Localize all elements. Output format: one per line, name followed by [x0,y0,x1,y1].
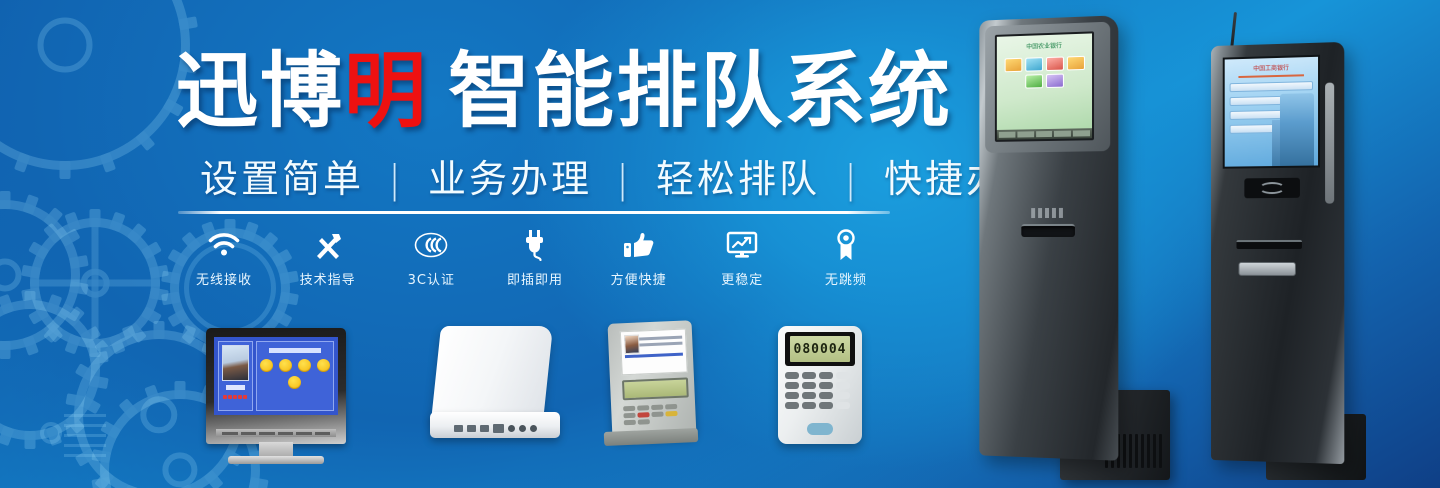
feature-item-stability: 更稳定 [696,226,788,288]
kiosk-right-screen: 中国工商银行 [1223,55,1320,169]
subtitle-item-1: 设置简单 [200,157,364,201]
subtitle-separator: | [844,157,860,201]
banner-headline: 迅博 明 智能排队系统 [176,42,906,142]
kiosk-left-logo [1031,208,1065,218]
evaluation-panel [256,341,334,411]
feature-label: 方便快捷 [593,269,685,288]
staff-info-panel [218,341,253,411]
subtitle-separator: | [616,157,632,201]
staff-id-card [620,328,688,375]
building-graphic-main [1280,93,1314,166]
staff-photo [222,345,249,381]
handheld-enter-key [807,423,833,435]
tools-icon [282,226,374,264]
feature-list: 无线接收 技术指导 3C认证 [178,226,892,292]
gear-icon [0,0,190,170]
feature-label: 即插即用 [489,269,581,288]
kiosk-left-service-tiles [997,53,1092,93]
feature-item-no-frequency-hop: 无跳频 [800,226,892,288]
feature-item-wireless: 无线接收 [178,226,270,288]
handheld-body: 080004 [778,326,862,444]
product-router [430,326,560,444]
handheld-screen-frame: 080004 [785,332,855,366]
product-desktop-evaluator [604,322,698,444]
monitor-stand-base [228,456,324,464]
handheld-number-display: 080004 [794,342,847,357]
feature-label: 技术指导 [282,269,374,288]
monitor-screen [214,337,338,415]
kiosk-left-screen-footer [997,128,1092,140]
promo-banner: 迅博 明 智能排队系统 设置简单 | 业务办理 | 轻松排队 | 快捷办理 无线… [0,0,1440,488]
kiosk-right-label-plate [1238,262,1296,276]
banner-subtitle: 设置简单 | 业务办理 | 轻松排队 | 快捷办理 [200,148,900,203]
product-monitor [206,328,346,444]
feature-item-convenient: 方便快捷 [593,226,685,288]
evaluator-keypad [623,403,690,425]
monitor-chart-icon [696,226,788,264]
product-kiosk-right: 中国工商银行 [1196,16,1382,480]
staff-name-line [226,385,245,390]
kiosk-right-bank-name: 中国工商银行 [1229,62,1314,73]
evaluator-stand [604,428,699,446]
rfid-wave-icon [1259,182,1285,194]
emoji-rating-faces [259,359,331,389]
evaluator-body [608,320,697,440]
kiosk-left-ticket-slot [1021,224,1075,237]
thumbs-up-icon [593,226,685,264]
product-handheld-caller: 080004 [778,326,862,444]
headline-part-1: 迅博 [176,51,344,133]
subtitle-item-2: 业务办理 [428,157,592,201]
id-card-photo [624,335,640,355]
handheld-keypad [785,372,855,409]
subtitle-separator: | [388,157,404,201]
monitor-bezel [206,328,346,444]
kiosk-left-screen: 中国农业银行 [995,31,1094,142]
product-showcase: 080004 [0,300,900,460]
kiosk-left-head: 中国农业银行 [985,22,1110,153]
divider-rule [178,211,890,214]
kiosk-right-body: 中国工商银行 [1211,42,1344,464]
headline-highlight: 明 [344,51,428,133]
subtitle-item-3: 轻松排队 [656,157,820,201]
evaluator-lcd [622,377,689,400]
feature-label: 无线接收 [178,269,270,288]
feature-label: 无跳频 [800,269,892,288]
evaluation-question-line [269,348,321,353]
award-ribbon-icon [800,226,892,264]
kiosk-right-card-reader [1244,178,1300,199]
handheld-lcd: 080004 [790,336,850,362]
ccc-mark-icon [385,226,477,264]
product-kiosk-left: 中国农业银行 [952,18,1162,480]
kiosk-left-bank-name: 中国农业银行 [1001,40,1088,52]
monitor-control-strip [216,429,336,437]
wifi-icon [178,226,270,264]
feature-item-support: 技术指导 [282,226,374,288]
rating-stars [222,395,249,399]
kiosk-right-screen-subtitle [1239,74,1304,78]
kiosk-right-ticket-slot [1236,240,1301,249]
kiosk-right-side-trim [1325,83,1334,204]
feature-label: 3C认证 [385,269,477,288]
plug-icon [489,226,581,264]
feature-item-plug-and-play: 即插即用 [489,226,581,288]
router-body [431,326,553,422]
router-ports [454,424,537,433]
kiosk-left-body: 中国农业银行 [979,15,1118,460]
feature-item-certification: 3C认证 [385,226,477,288]
feature-label: 更稳定 [696,269,788,288]
headline-part-2: 智能排队系统 [448,51,952,133]
